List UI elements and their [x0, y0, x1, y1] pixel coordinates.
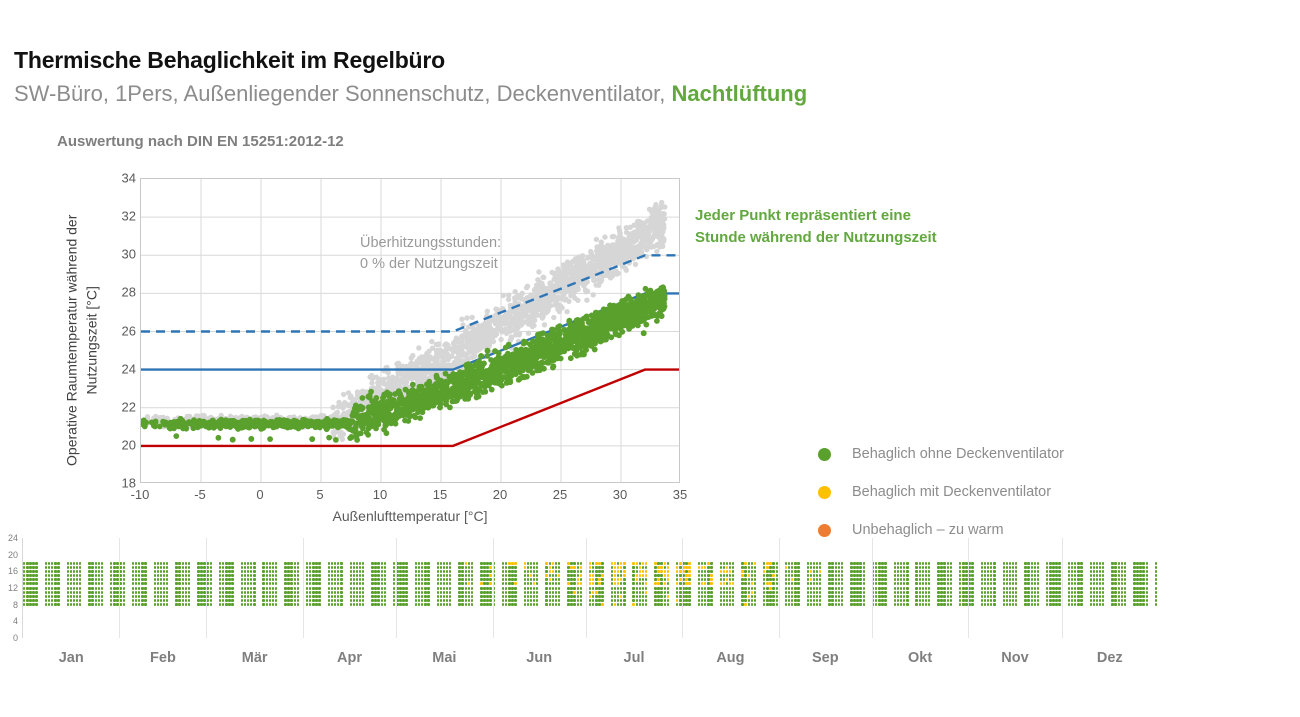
carpet-cell [353, 591, 355, 594]
carpet-cell [113, 591, 115, 594]
carpet-cell [98, 591, 100, 594]
carpet-cell [35, 595, 37, 598]
carpet-cell [971, 578, 973, 581]
carpet-cell [309, 582, 311, 585]
carpet-cell [294, 570, 296, 573]
carpet-cell [549, 591, 551, 594]
carpet-cell [937, 603, 939, 606]
carpet-cell [894, 603, 896, 606]
carpet-cell [965, 587, 967, 590]
carpet-cell [312, 578, 314, 581]
carpet-cell [723, 587, 725, 590]
carpet-cell [589, 562, 591, 565]
carpet-cell [900, 578, 902, 581]
carpet-cell [732, 599, 734, 602]
carpet-cell [1146, 599, 1148, 602]
carpet-cell [228, 566, 230, 569]
carpet-cell [1052, 587, 1054, 590]
carpet-cell [856, 570, 858, 573]
carpet-cell [262, 595, 264, 598]
carpet-cell [769, 574, 771, 577]
carpet-cell [676, 578, 678, 581]
carpet-cell [489, 595, 491, 598]
carpet-cell [940, 599, 942, 602]
carpet-cell [290, 603, 292, 606]
carpet-cell [577, 603, 579, 606]
carpet-cell [144, 587, 146, 590]
carpet-cell [788, 562, 790, 565]
carpet-cell [667, 595, 669, 598]
carpet-cell [266, 566, 268, 569]
y-tick-32: 32 [100, 209, 136, 224]
carpet-cell [797, 582, 799, 585]
carpet-cell [51, 603, 53, 606]
annual-carpet-chart: 04812162024 JanFebMärAprMaiJunJulAugSepO… [0, 530, 1300, 670]
carpet-cell [884, 562, 886, 565]
carpet-cell [415, 582, 417, 585]
carpet-cell [1090, 582, 1092, 585]
carpet-cell [788, 570, 790, 573]
carpet-cell [710, 562, 712, 565]
carpet-cell [511, 566, 513, 569]
carpet-cell [632, 578, 634, 581]
carpet-cell [91, 566, 93, 569]
carpet-cell [197, 578, 199, 581]
carpet-cell [514, 595, 516, 598]
carpet-cell [950, 587, 952, 590]
carpet-cell [906, 574, 908, 577]
carpet-cell [483, 562, 485, 565]
carpet-cell [98, 587, 100, 590]
carpet-cell [1118, 574, 1120, 577]
carpet-cell [623, 603, 625, 606]
carpet-cell [1068, 570, 1070, 573]
carpet-cell [835, 578, 837, 581]
carpet-cell [766, 591, 768, 594]
carpet-cell [570, 574, 572, 577]
carpet-cell [536, 591, 538, 594]
carpet-cell [570, 562, 572, 565]
carpet-cell [838, 574, 840, 577]
carpet-cell [23, 570, 25, 573]
carpet-cell [225, 570, 227, 573]
carpet-cell [623, 570, 625, 573]
carpet-cell [219, 595, 221, 598]
legend-item-1[interactable]: Behaglich mit Deckenventilator [818, 473, 1148, 511]
x-tick-30: 30 [590, 487, 650, 502]
carpet-cell [225, 603, 227, 606]
carpet-cell [290, 599, 292, 602]
carpet-cell [188, 591, 190, 594]
carpet-cell [480, 574, 482, 577]
carpet-cell [1111, 595, 1113, 598]
carpet-cell [247, 570, 249, 573]
carpet-cell [530, 582, 532, 585]
carpet-cell [185, 603, 187, 606]
carpet-cell [1015, 587, 1017, 590]
carpet-cell [937, 578, 939, 581]
carpet-cell [421, 587, 423, 590]
carpet-cell [247, 603, 249, 606]
carpet-cell [57, 587, 59, 590]
carpet-cell [987, 578, 989, 581]
carpet-cell [393, 566, 395, 569]
carpet-cell [720, 578, 722, 581]
carpet-cell [863, 595, 865, 598]
carpet-cell [859, 603, 861, 606]
carpet-cell [853, 591, 855, 594]
carpet-cell [511, 578, 513, 581]
carpet-cell [377, 603, 379, 606]
carpet-cell [1037, 578, 1039, 581]
carpet-cell [971, 603, 973, 606]
carpet-cell [1055, 562, 1057, 565]
carpet-cell [144, 562, 146, 565]
carpet-cell [48, 570, 50, 573]
carpet-cell [922, 566, 924, 569]
carpet-cell [838, 587, 840, 590]
carpet-cell [1080, 578, 1082, 581]
carpet-cell [331, 595, 333, 598]
carpet-cell [776, 562, 778, 565]
carpet-cell [667, 562, 669, 565]
carpet-cell [203, 578, 205, 581]
carpet-cell [101, 570, 103, 573]
carpet-cell [710, 566, 712, 569]
carpet-cell [70, 582, 72, 585]
carpet-cell [878, 591, 880, 594]
carpet-cell [657, 603, 659, 606]
carpet-cell [558, 578, 560, 581]
carpet-cell [483, 574, 485, 577]
carpet-cell [850, 603, 852, 606]
carpet-cell [1058, 595, 1060, 598]
carpet-cell [1068, 603, 1070, 606]
carpet-cell [483, 591, 485, 594]
carpet-cell [751, 591, 753, 594]
carpet-cell [1058, 570, 1060, 573]
carpet-month-separator [206, 538, 207, 638]
carpet-cell [101, 603, 103, 606]
carpet-cell [141, 574, 143, 577]
carpet-cell [1096, 603, 1098, 606]
carpet-cell [73, 574, 75, 577]
carpet-cell [685, 570, 687, 573]
carpet-cell [135, 574, 137, 577]
carpet-cell [132, 574, 134, 577]
carpet-cell [595, 582, 597, 585]
carpet-cell [138, 595, 140, 598]
carpet-cell [819, 570, 821, 573]
carpet-cell [1093, 591, 1095, 594]
carpet-cell [294, 587, 296, 590]
carpet-cell [437, 566, 439, 569]
carpet-cell [1142, 562, 1144, 565]
carpet-cell [819, 599, 821, 602]
carpet-cell [863, 562, 865, 565]
carpet-cell [1096, 570, 1098, 573]
carpet-cell [1052, 582, 1054, 585]
carpet-cell [1077, 570, 1079, 573]
carpet-cell [667, 570, 669, 573]
carpet-cell [971, 562, 973, 565]
carpet-cell [144, 570, 146, 573]
carpet-cell [884, 587, 886, 590]
carpet-cell [754, 599, 756, 602]
carpet-cell [660, 587, 662, 590]
carpet-cell [113, 578, 115, 581]
carpet-cell [51, 599, 53, 602]
carpet-cell [377, 582, 379, 585]
carpet-cell [878, 603, 880, 606]
carpet-cell [424, 582, 426, 585]
carpet-cell [138, 591, 140, 594]
carpet-cell [272, 599, 274, 602]
carpet-cell [51, 570, 53, 573]
carpet-cell [1114, 587, 1116, 590]
carpet-cell [645, 587, 647, 590]
carpet-cell [900, 566, 902, 569]
carpet-cell [831, 603, 833, 606]
carpet-cell [132, 562, 134, 565]
carpet-cell [471, 599, 473, 602]
carpet-cell [203, 574, 205, 577]
carpet-cell [160, 591, 162, 594]
carpet-cell [266, 595, 268, 598]
carpet-cell [381, 582, 383, 585]
carpet-cell [228, 595, 230, 598]
carpet-cell [1124, 582, 1126, 585]
carpet-cell [166, 591, 168, 594]
carpet-cell [1006, 595, 1008, 598]
carpet-cell [990, 582, 992, 585]
carpet-cell [524, 578, 526, 581]
legend-item-0[interactable]: Behaglich ohne Deckenventilator [818, 435, 1148, 473]
carpet-cell [508, 595, 510, 598]
carpet-cell [1034, 587, 1036, 590]
carpet-cell [704, 603, 706, 606]
carpet-cell [667, 591, 669, 594]
carpet-cell [144, 595, 146, 598]
carpet-cell [797, 599, 799, 602]
carpet-cell [166, 574, 168, 577]
carpet-cell [549, 566, 551, 569]
carpet-cell [701, 570, 703, 573]
carpet-cell [906, 595, 908, 598]
carpet-cell [971, 574, 973, 577]
carpet-cell [835, 570, 837, 573]
carpet-cell [903, 574, 905, 577]
carpet-cell [632, 595, 634, 598]
carpet-cell [54, 578, 56, 581]
carpet-cell [906, 570, 908, 573]
carpet-cell [940, 562, 942, 565]
carpet-cell [54, 603, 56, 606]
carpet-cell [900, 562, 902, 565]
carpet-cell [530, 591, 532, 594]
carpet-cell [1136, 570, 1138, 573]
carpet-cell [679, 595, 681, 598]
carpet-cell [813, 574, 815, 577]
carpet-cell [269, 603, 271, 606]
carpet-cell [1068, 566, 1070, 569]
carpet-cell [1003, 562, 1005, 565]
carpet-cell [838, 578, 840, 581]
carpet-cell [275, 566, 277, 569]
carpet-cell [1058, 574, 1060, 577]
carpet-cell [732, 574, 734, 577]
carpet-cell [483, 603, 485, 606]
carpet-cell [863, 587, 865, 590]
carpet-cell [903, 587, 905, 590]
carpet-cell [362, 599, 364, 602]
carpet-cell [965, 578, 967, 581]
carpet-cell [508, 599, 510, 602]
carpet-cell [906, 566, 908, 569]
carpet-cell [76, 587, 78, 590]
carpet-cell [266, 582, 268, 585]
carpet-cell [247, 595, 249, 598]
carpet-cell [461, 562, 463, 565]
carpet-cell [981, 591, 983, 594]
carpet-cell [592, 566, 594, 569]
carpet-cell [611, 603, 613, 606]
carpet-cell [163, 566, 165, 569]
carpet-cell [502, 562, 504, 565]
carpet-cell [247, 574, 249, 577]
carpet-cell [595, 591, 597, 594]
carpet-cell [701, 591, 703, 594]
carpet-cell [555, 603, 557, 606]
carpet-cell [632, 603, 634, 606]
carpet-cell [919, 595, 921, 598]
carpet-cell [48, 574, 50, 577]
carpet-cell [741, 562, 743, 565]
carpet-cell [959, 595, 961, 598]
carpet-cell [1090, 566, 1092, 569]
carpet-cell [524, 595, 526, 598]
carpet-cell [219, 570, 221, 573]
carpet-cell [144, 578, 146, 581]
carpet-cell [835, 574, 837, 577]
carpet-cell [138, 566, 140, 569]
carpet-cell [1015, 574, 1017, 577]
carpet-cell [334, 574, 336, 577]
carpet-cell [632, 587, 634, 590]
carpet-cell [1055, 582, 1057, 585]
carpet-cell [371, 574, 373, 577]
carpet-cell [831, 599, 833, 602]
carpet-cell [1099, 599, 1101, 602]
carpet-cell [188, 562, 190, 565]
carpet-cell [471, 570, 473, 573]
carpet-cell [981, 582, 983, 585]
carpet-cell [73, 566, 75, 569]
carpet-cell [915, 566, 917, 569]
carpet-cell [1142, 587, 1144, 590]
carpet-cell [533, 574, 535, 577]
carpet-cell [772, 603, 774, 606]
carpet-cell [676, 591, 678, 594]
carpet-cell [1046, 587, 1048, 590]
carpet-cell [356, 562, 358, 565]
carpet-cell [480, 562, 482, 565]
carpet-cell [595, 603, 597, 606]
carpet-cell [166, 599, 168, 602]
carpet-cell [831, 570, 833, 573]
carpet-cell [623, 578, 625, 581]
carpet-cell [788, 574, 790, 577]
carpet-cell [287, 566, 289, 569]
carpet-cell [894, 562, 896, 565]
carpet-cell [1024, 599, 1026, 602]
carpet-cell [950, 582, 952, 585]
carpet-cell [1024, 582, 1026, 585]
carpet-cell [505, 603, 507, 606]
carpet-cell [620, 582, 622, 585]
carpet-cell [272, 591, 274, 594]
carpet-cell [374, 578, 376, 581]
carpet-cell [598, 603, 600, 606]
carpet-cell [157, 578, 159, 581]
carpet-cell [570, 570, 572, 573]
carpet-cell [110, 591, 112, 594]
carpet-cell [437, 570, 439, 573]
carpet-cell [471, 574, 473, 577]
carpet-cell [797, 595, 799, 598]
carpet-cell [688, 599, 690, 602]
carpet-cell [654, 574, 656, 577]
carpet-cell [424, 587, 426, 590]
carpet-cell [508, 574, 510, 577]
carpet-cell [116, 566, 118, 569]
carpet-cell [552, 582, 554, 585]
carpet-cell [884, 595, 886, 598]
carpet-cell [776, 595, 778, 598]
carpet-cell [508, 570, 510, 573]
carpet-cell [294, 562, 296, 565]
carpet-cell [57, 578, 59, 581]
carpet-cell [290, 587, 292, 590]
carpet-cell [754, 582, 756, 585]
carpet-cell [350, 582, 352, 585]
carpet-cell [894, 570, 896, 573]
carpet-month-label-feb: Feb [150, 650, 176, 666]
carpet-cell [337, 562, 339, 565]
carpet-cell [101, 587, 103, 590]
carpet-cell [57, 595, 59, 598]
carpet-cell [937, 566, 939, 569]
carpet-cell [962, 582, 964, 585]
carpet-cell [632, 570, 634, 573]
carpet-cell [664, 599, 666, 602]
carpet-cell [231, 603, 233, 606]
carpet-cell [465, 587, 467, 590]
carpet-cell [577, 574, 579, 577]
carpet-cell [878, 570, 880, 573]
carpet-cell [766, 603, 768, 606]
carpet-cell [856, 562, 858, 565]
carpet-cell [178, 582, 180, 585]
carpet-cell [1012, 582, 1014, 585]
carpet-cell [284, 578, 286, 581]
carpet-cell [163, 595, 165, 598]
carpet-cell [489, 587, 491, 590]
carpet-cell [178, 570, 180, 573]
carpet-cell [203, 599, 205, 602]
carpet-cell [297, 574, 299, 577]
carpet-cell [772, 595, 774, 598]
